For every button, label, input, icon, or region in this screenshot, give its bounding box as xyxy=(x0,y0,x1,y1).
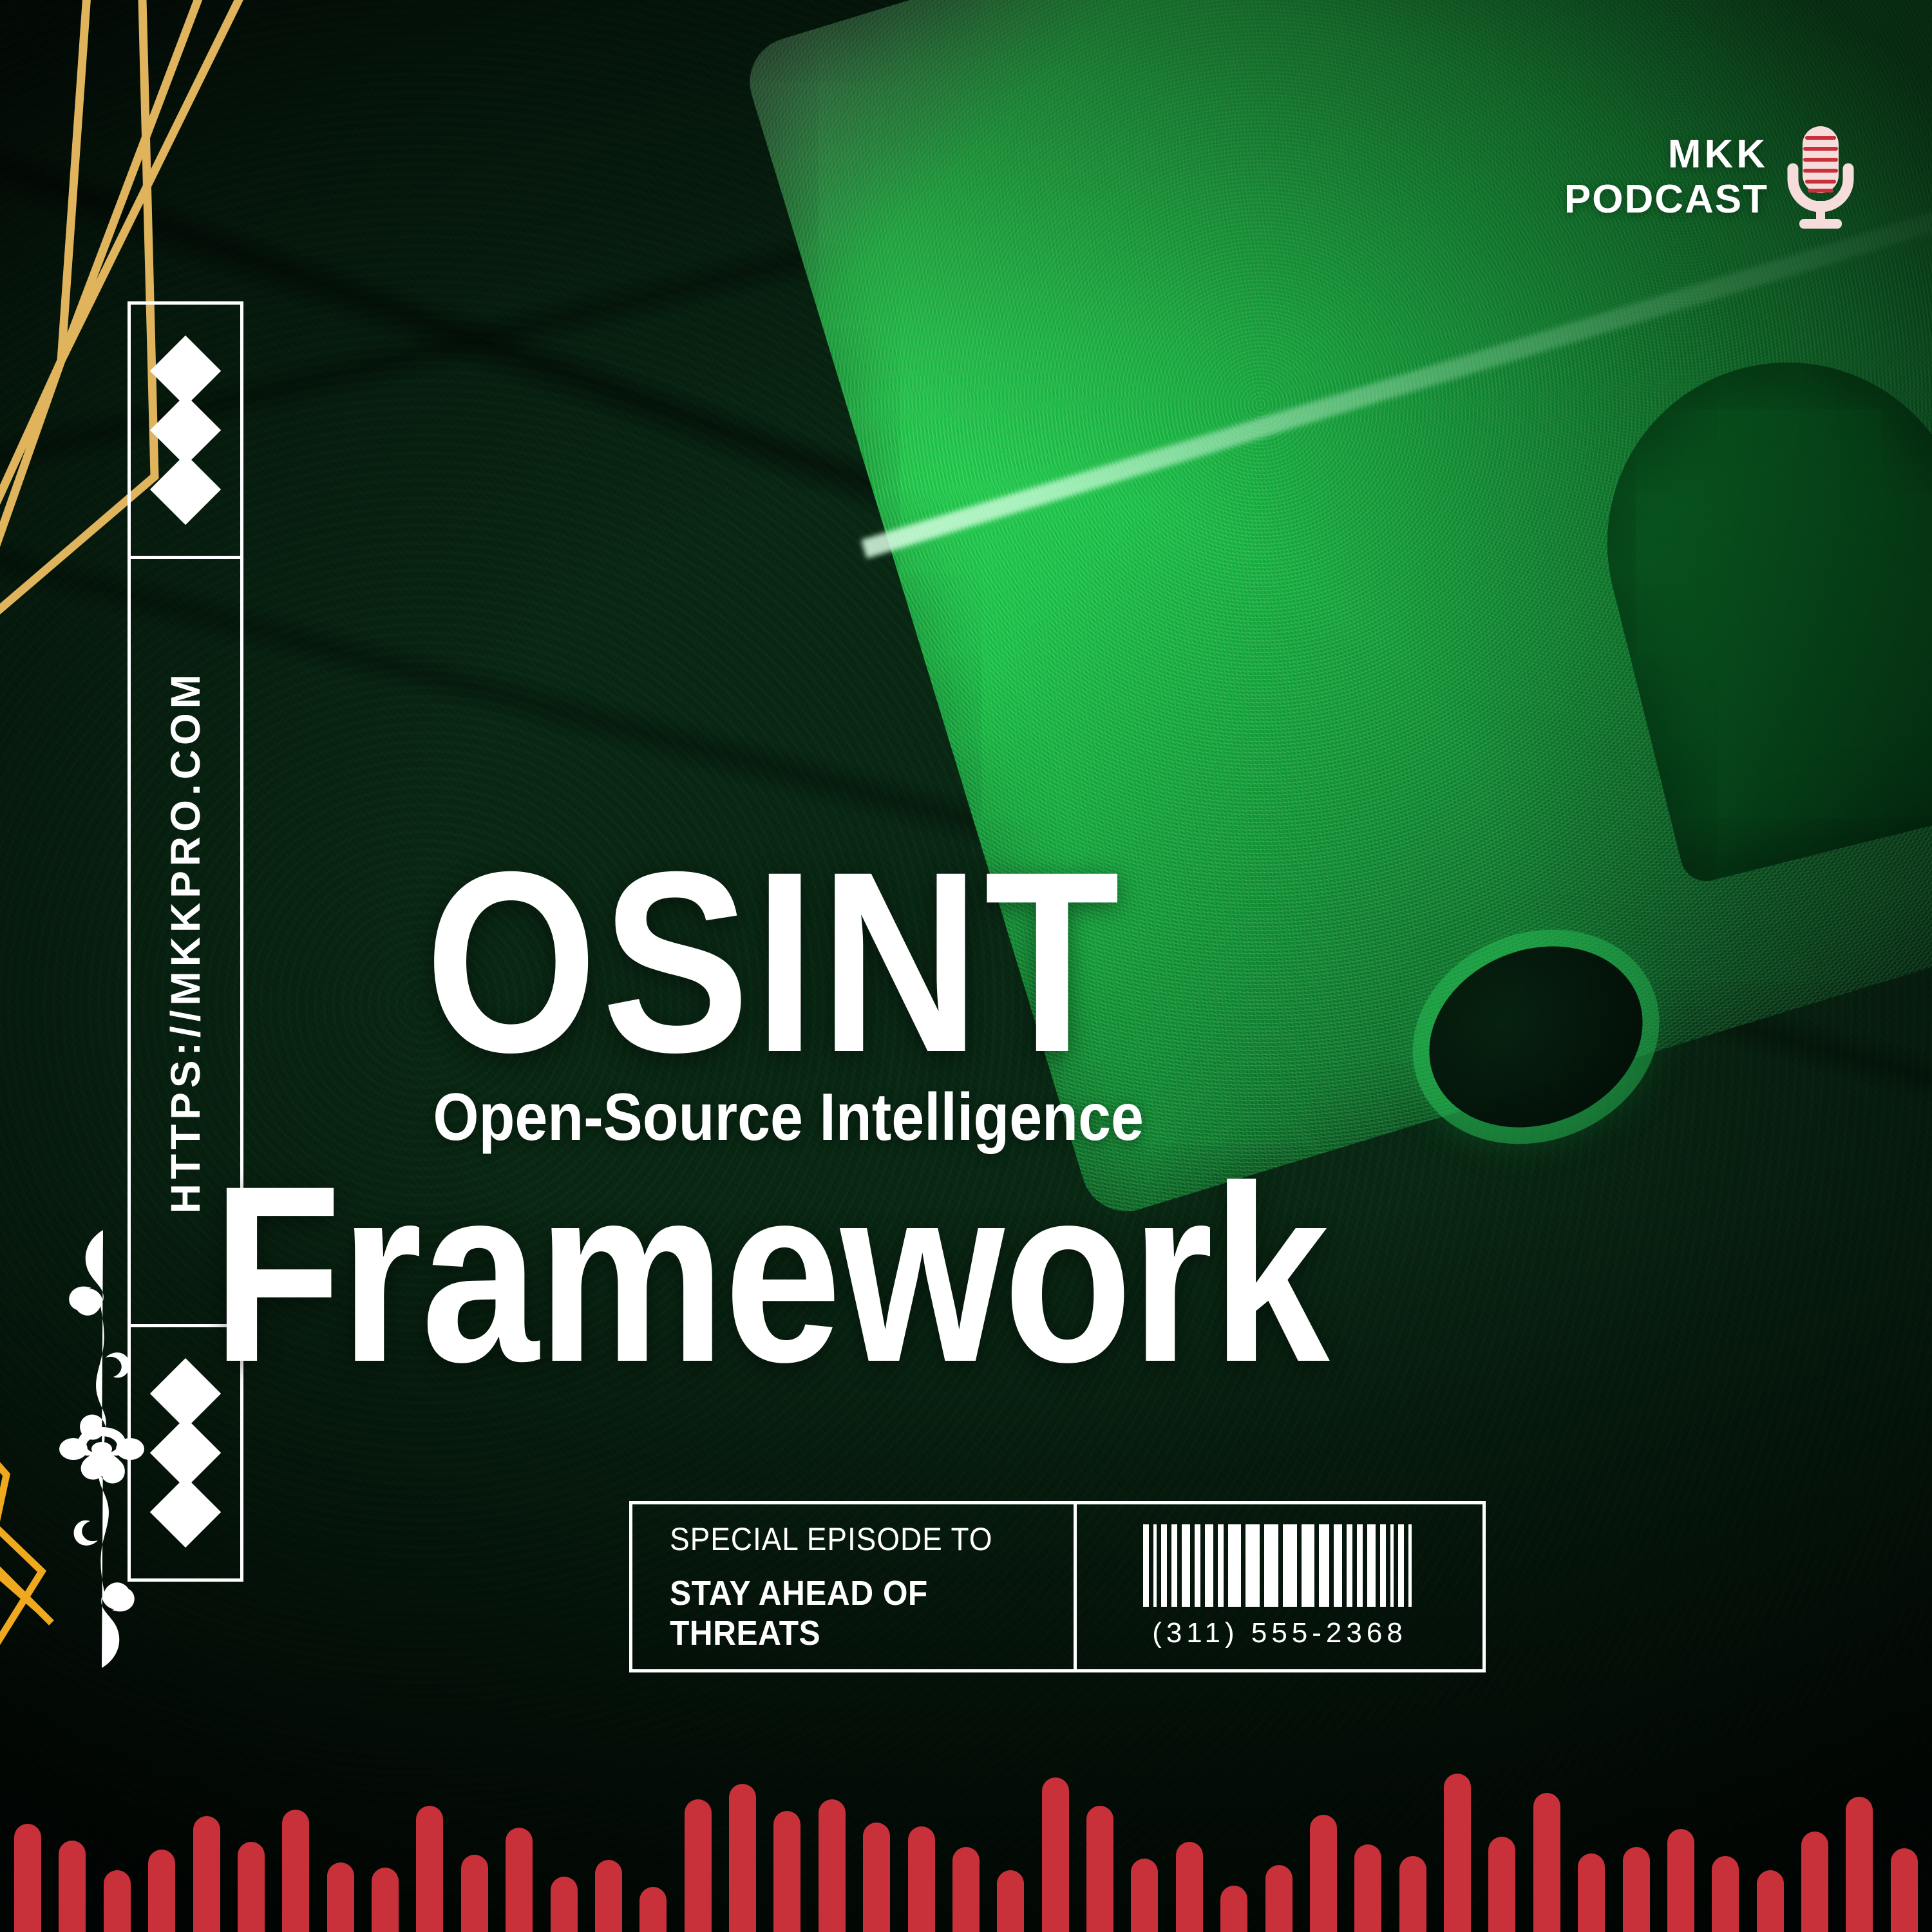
waveform-bar xyxy=(1578,1853,1605,1932)
waveform-bar xyxy=(908,1826,935,1932)
page-title: OSINT xyxy=(425,857,1577,1068)
episode-info-line1: SPECIAL EPISODE TO xyxy=(670,1520,1041,1558)
waveform-bar xyxy=(1533,1793,1560,1932)
filigree-ornament-icon xyxy=(44,1224,160,1674)
audio-waveform-icon xyxy=(0,1719,1932,1932)
barcode-bar xyxy=(1398,1524,1404,1607)
waveform-bar xyxy=(416,1806,443,1932)
brand-logo[interactable]: MKK PODCAST xyxy=(1564,122,1856,232)
waveform-bar xyxy=(595,1860,622,1932)
waveform-bar xyxy=(1623,1847,1650,1932)
barcode-bar xyxy=(1408,1524,1412,1607)
brand-logo-line2: PODCAST xyxy=(1564,180,1768,220)
waveform-bar xyxy=(104,1870,131,1932)
podcast-cover-art: MKK PODCAST HTTPS://MKKPRO.COM xyxy=(0,0,1932,1932)
waveform-bar xyxy=(952,1847,980,1932)
waveform-bar xyxy=(685,1799,712,1932)
barcode-bar xyxy=(1153,1524,1157,1607)
diamond-icon xyxy=(150,454,221,525)
waveform-bar xyxy=(551,1877,578,1932)
barcode-block: (311) 555-2368 xyxy=(1077,1504,1482,1669)
waveform-bar xyxy=(1176,1842,1203,1932)
waveform-bar xyxy=(327,1862,354,1932)
waveform-bar xyxy=(1086,1806,1113,1932)
title-block: OSINT Open-Source Intelligence Framework xyxy=(425,857,1765,1382)
waveform-bar xyxy=(863,1823,890,1932)
waveform-bar xyxy=(148,1850,175,1932)
barcode-bar xyxy=(1390,1524,1394,1607)
waveform-bar xyxy=(1265,1865,1293,1932)
waveform-bar xyxy=(372,1868,399,1932)
barcode-bar xyxy=(1161,1524,1167,1607)
waveform-bar xyxy=(997,1870,1024,1932)
waveform-bar xyxy=(14,1824,41,1932)
barcode-bar xyxy=(1302,1524,1314,1607)
waveform-bar xyxy=(506,1828,533,1932)
waveform-bar xyxy=(1712,1856,1739,1932)
episode-info-line2: STAY AHEAD OF THREATS xyxy=(670,1573,1041,1653)
barcode-bar xyxy=(1205,1524,1213,1607)
waveform-bar xyxy=(238,1842,265,1932)
barcode-bar xyxy=(1357,1524,1363,1607)
waveform-bar xyxy=(1399,1856,1426,1932)
barcode-bar xyxy=(1218,1524,1224,1607)
barcode-bar xyxy=(1347,1524,1352,1607)
phone-number[interactable]: (311) 555-2368 xyxy=(1152,1617,1407,1649)
brand-logo-text: MKK PODCAST xyxy=(1564,135,1768,220)
waveform-bar xyxy=(1042,1777,1069,1932)
waveform-bar xyxy=(1220,1886,1247,1932)
barcode-bar xyxy=(1245,1524,1260,1607)
waveform-bar xyxy=(193,1816,220,1932)
waveform-bar xyxy=(1757,1870,1784,1932)
barcode-bar xyxy=(1182,1524,1190,1607)
barcode-icon xyxy=(1143,1524,1416,1607)
diamond-icon xyxy=(150,1477,221,1548)
barcode-bar xyxy=(1367,1524,1376,1607)
waveform-bar xyxy=(282,1810,309,1932)
episode-info-text: SPECIAL EPISODE TO STAY AHEAD OF THREATS xyxy=(632,1504,1077,1669)
waveform-bar xyxy=(1891,1848,1918,1932)
barcode-bar xyxy=(1380,1524,1386,1607)
brand-logo-line1: MKK xyxy=(1564,135,1768,175)
waveform-bar xyxy=(1488,1837,1515,1932)
barcode-bar xyxy=(1195,1524,1200,1607)
barcode-bar xyxy=(1334,1524,1342,1607)
barcode-bar xyxy=(1283,1524,1297,1607)
waveform-bar xyxy=(461,1855,488,1932)
waveform-bar xyxy=(1354,1844,1381,1932)
waveform-bar xyxy=(773,1811,800,1932)
waveform-bar xyxy=(729,1784,756,1932)
barcode-bar xyxy=(1228,1524,1241,1607)
waveform-bar xyxy=(1667,1829,1694,1932)
waveform-bar xyxy=(639,1887,667,1932)
microphone-icon xyxy=(1785,122,1856,232)
page-title-secondary: Framework xyxy=(213,1166,1516,1382)
waveform-bar xyxy=(59,1841,86,1932)
barcode-bar xyxy=(1171,1524,1177,1607)
barcode-bar xyxy=(1264,1524,1278,1607)
waveform-bar xyxy=(1444,1774,1471,1932)
barcode-bar xyxy=(1143,1524,1149,1607)
diamond-group-top xyxy=(131,305,240,559)
website-url[interactable]: HTTPS://MKKPRO.COM xyxy=(162,670,209,1213)
waveform-bar xyxy=(1846,1797,1873,1932)
waveform-bar xyxy=(1801,1832,1828,1932)
barcode-bar xyxy=(1319,1524,1329,1607)
episode-info-box: SPECIAL EPISODE TO STAY AHEAD OF THREATS… xyxy=(629,1501,1486,1672)
waveform-bar xyxy=(819,1799,846,1932)
waveform-bar xyxy=(1310,1815,1337,1932)
waveform-bar xyxy=(1131,1859,1158,1932)
